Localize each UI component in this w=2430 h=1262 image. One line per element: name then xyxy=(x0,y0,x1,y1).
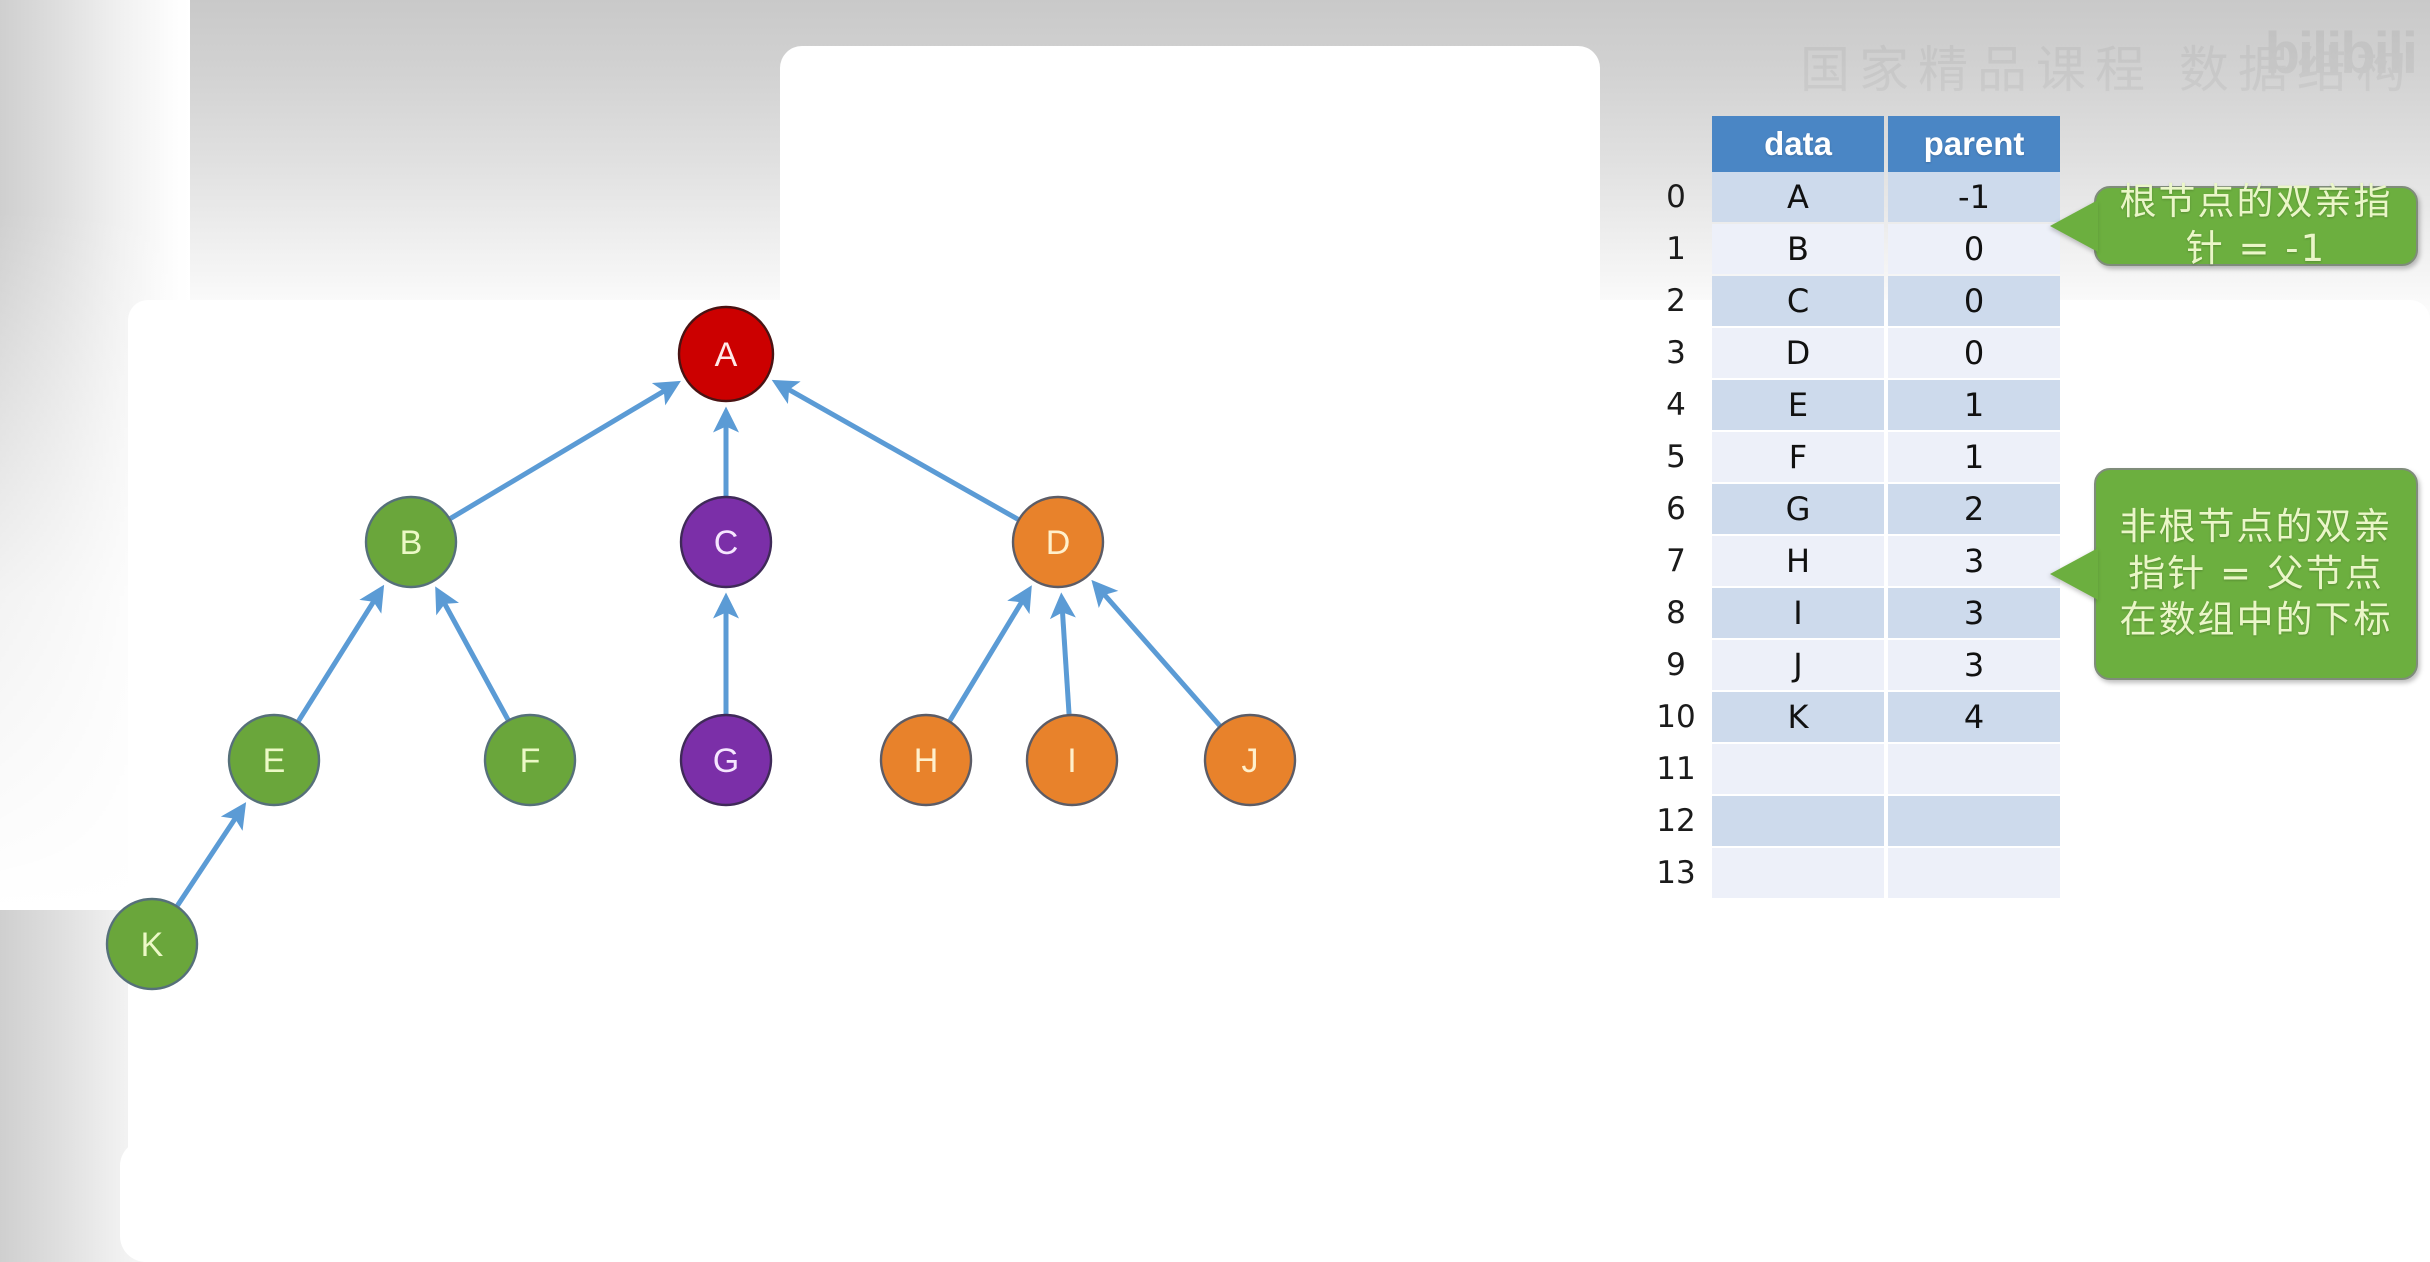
tree-node-G[interactable]: G xyxy=(681,715,771,805)
cell-parent: 2 xyxy=(1888,484,2060,534)
callout-root-pointer: 根节点的双亲指针 = -1 xyxy=(2094,186,2418,266)
cell-parent: 1 xyxy=(1888,380,2060,430)
tree-node-label: F xyxy=(520,742,541,780)
tree-edge-I-to-D xyxy=(1062,598,1069,714)
content-panel-bottom xyxy=(120,1140,2430,1262)
cell-parent xyxy=(1888,796,2060,846)
tree-node-J[interactable]: J xyxy=(1205,715,1295,805)
tree-node-label: J xyxy=(1242,742,1259,780)
row-index: 7 xyxy=(1640,536,1712,586)
tree-edge-K-to-E xyxy=(177,807,243,906)
cell-parent: 3 xyxy=(1888,588,2060,638)
row-index: 4 xyxy=(1640,380,1712,430)
cell-parent: 3 xyxy=(1888,640,2060,690)
tree-node-label: C xyxy=(714,524,739,562)
index-header-spacer xyxy=(1640,116,1712,172)
table-row: 3D0 xyxy=(1640,328,2060,378)
row-index: 5 xyxy=(1640,432,1712,482)
tree-node-A[interactable]: A xyxy=(679,307,773,401)
cell-data: B xyxy=(1712,224,1884,274)
table-row: 7H3 xyxy=(1640,536,2060,586)
tree-node-label: E xyxy=(263,742,286,780)
cell-data xyxy=(1712,744,1884,794)
tree-edge-J-to-D xyxy=(1095,584,1220,725)
table-row: 0A-1 xyxy=(1640,172,2060,222)
tree-node-K[interactable]: K xyxy=(107,899,197,989)
table-body: 0A-11B02C03D04E15F16G27H38I39J310K411121… xyxy=(1640,172,2060,898)
cell-data: K xyxy=(1712,692,1884,742)
cell-data: F xyxy=(1712,432,1884,482)
callout-nonroot-text: 非根节点的双亲指针 = 父节点在数组中的下标 xyxy=(2096,498,2416,650)
tree-node-F[interactable]: F xyxy=(485,715,575,805)
table-row: 13 xyxy=(1640,848,2060,898)
table-row: 1B0 xyxy=(1640,224,2060,274)
parent-array-table: data parent 0A-11B02C03D04E15F16G27H38I3… xyxy=(1640,116,2060,898)
cell-parent: 4 xyxy=(1888,692,2060,742)
tree-node-label: D xyxy=(1046,524,1071,562)
table-row: 2C0 xyxy=(1640,276,2060,326)
tree-node-H[interactable]: H xyxy=(881,715,971,805)
cell-parent: 3 xyxy=(1888,536,2060,586)
tree-edge-B-to-A xyxy=(450,384,676,519)
table-row: 5F1 xyxy=(1640,432,2060,482)
cell-data xyxy=(1712,848,1884,898)
callout-tail-icon xyxy=(2050,200,2098,252)
table-row: 11 xyxy=(1640,744,2060,794)
cell-data: A xyxy=(1712,172,1884,222)
row-index: 13 xyxy=(1640,848,1712,898)
cell-parent xyxy=(1888,744,2060,794)
tree-edge-F-to-B xyxy=(438,591,508,719)
table-row: 10K4 xyxy=(1640,692,2060,742)
row-index: 6 xyxy=(1640,484,1712,534)
row-index: 8 xyxy=(1640,588,1712,638)
cell-data: H xyxy=(1712,536,1884,586)
tree-edge-H-to-D xyxy=(950,590,1029,721)
tree-node-I[interactable]: I xyxy=(1027,715,1117,805)
tree-diagram: ABCDEFGHIJK xyxy=(0,0,1500,1100)
tree-nodes: ABCDEFGHIJK xyxy=(107,307,1295,989)
tree-node-label: K xyxy=(141,926,164,964)
cell-parent: 0 xyxy=(1888,276,2060,326)
row-index: 9 xyxy=(1640,640,1712,690)
tree-node-label: H xyxy=(914,742,939,780)
cell-data: I xyxy=(1712,588,1884,638)
callout-tail-icon xyxy=(2050,548,2098,600)
cell-parent: 1 xyxy=(1888,432,2060,482)
table-row: 8I3 xyxy=(1640,588,2060,638)
tree-node-label: B xyxy=(400,524,423,562)
table-row: 12 xyxy=(1640,796,2060,846)
cell-parent xyxy=(1888,848,2060,898)
tree-node-label: A xyxy=(715,336,738,374)
column-header-parent: parent xyxy=(1888,116,2060,172)
tree-node-label: I xyxy=(1067,742,1076,780)
cell-parent: -1 xyxy=(1888,172,2060,222)
cell-parent: 0 xyxy=(1888,224,2060,274)
row-index: 1 xyxy=(1640,224,1712,274)
callout-root-text: 根节点的双亲指针 = -1 xyxy=(2096,173,2416,278)
tree-edges xyxy=(177,383,1219,906)
row-index: 10 xyxy=(1640,692,1712,742)
row-index: 11 xyxy=(1640,744,1712,794)
cell-data: E xyxy=(1712,380,1884,430)
tree-edge-E-to-B xyxy=(298,589,381,721)
row-index: 2 xyxy=(1640,276,1712,326)
tree-node-B[interactable]: B xyxy=(366,497,456,587)
table-row: 6G2 xyxy=(1640,484,2060,534)
slide-canvas: 国家精品课程 数据结构 bilibili ABCDEFGHIJK data pa… xyxy=(0,0,2430,1262)
table-row: 9J3 xyxy=(1640,640,2060,690)
tree-node-D[interactable]: D xyxy=(1013,497,1103,587)
cell-data: C xyxy=(1712,276,1884,326)
table-row: 4E1 xyxy=(1640,380,2060,430)
tree-node-E[interactable]: E xyxy=(229,715,319,805)
row-index: 12 xyxy=(1640,796,1712,846)
cell-data: J xyxy=(1712,640,1884,690)
row-index: 3 xyxy=(1640,328,1712,378)
cell-data: D xyxy=(1712,328,1884,378)
tree-edge-D-to-A xyxy=(776,383,1018,520)
tree-node-C[interactable]: C xyxy=(681,497,771,587)
cell-data xyxy=(1712,796,1884,846)
cell-data: G xyxy=(1712,484,1884,534)
row-index: 0 xyxy=(1640,172,1712,222)
callout-nonroot-pointer: 非根节点的双亲指针 = 父节点在数组中的下标 xyxy=(2094,468,2418,680)
column-header-data: data xyxy=(1712,116,1884,172)
tree-node-label: G xyxy=(713,742,739,780)
cell-parent: 0 xyxy=(1888,328,2060,378)
table-header-row: data parent xyxy=(1640,116,2060,172)
